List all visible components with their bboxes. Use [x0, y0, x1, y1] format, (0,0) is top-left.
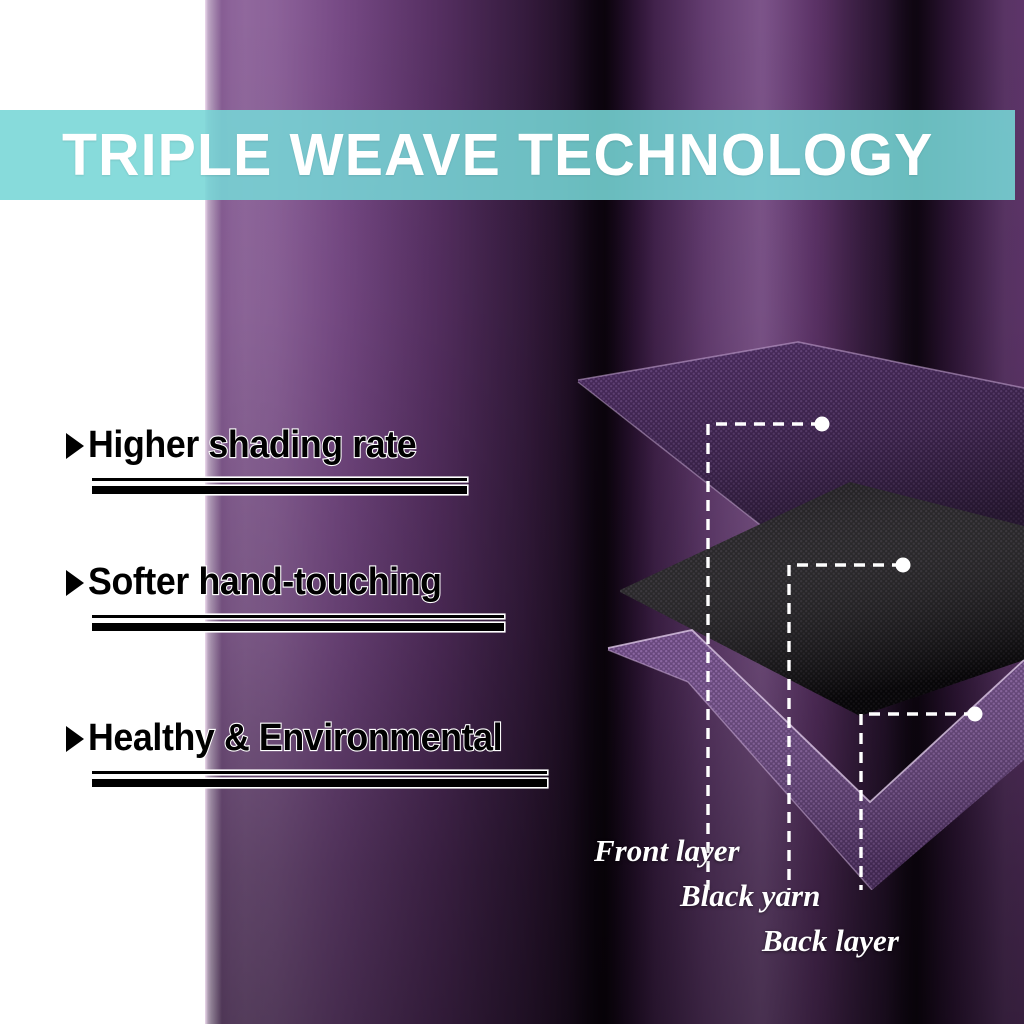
feature-label-3: Healthy & Environmental — [88, 717, 502, 760]
feature-item-2: Softer hand-touching — [66, 561, 626, 631]
feature-underline-1 — [92, 478, 467, 494]
feature-row: Healthy & Environmental — [66, 717, 626, 760]
feature-item-3: Healthy & Environmental — [66, 717, 626, 787]
underline-thick-rule — [92, 486, 467, 494]
feature-label-1: Higher shading rate — [88, 424, 416, 467]
triangle-bullet-icon — [66, 433, 84, 459]
banner-title: TRIPLE WEAVE TECHNOLOGY — [62, 121, 933, 189]
diagram-black-yarn-layer — [620, 482, 1024, 716]
underline-thick-rule — [92, 623, 504, 631]
callout-label-black-yarn: Black yarn — [680, 878, 820, 914]
triangle-bullet-icon — [66, 726, 84, 752]
product-feature-graphic: TRIPLE WEAVE TECHNOLOGY Higher shading r… — [0, 0, 1024, 1024]
feature-underline-3 — [92, 771, 547, 787]
underline-thin-rule — [92, 615, 504, 618]
headline-banner: TRIPLE WEAVE TECHNOLOGY — [0, 110, 1015, 200]
underline-thick-rule — [92, 779, 547, 787]
feature-row: Softer hand-touching — [66, 561, 626, 604]
callout-label-back-layer: Back layer — [762, 923, 899, 959]
callout-label-front-layer: Front layer — [594, 833, 740, 869]
triangle-bullet-icon — [66, 570, 84, 596]
feature-underline-2 — [92, 615, 504, 631]
feature-label-2: Softer hand-touching — [88, 561, 442, 604]
underline-thin-rule — [92, 478, 467, 481]
feature-item-1: Higher shading rate — [66, 424, 626, 494]
fabric-layer-diagram — [560, 330, 1024, 890]
underline-thin-rule — [92, 771, 547, 774]
feature-row: Higher shading rate — [66, 424, 626, 467]
